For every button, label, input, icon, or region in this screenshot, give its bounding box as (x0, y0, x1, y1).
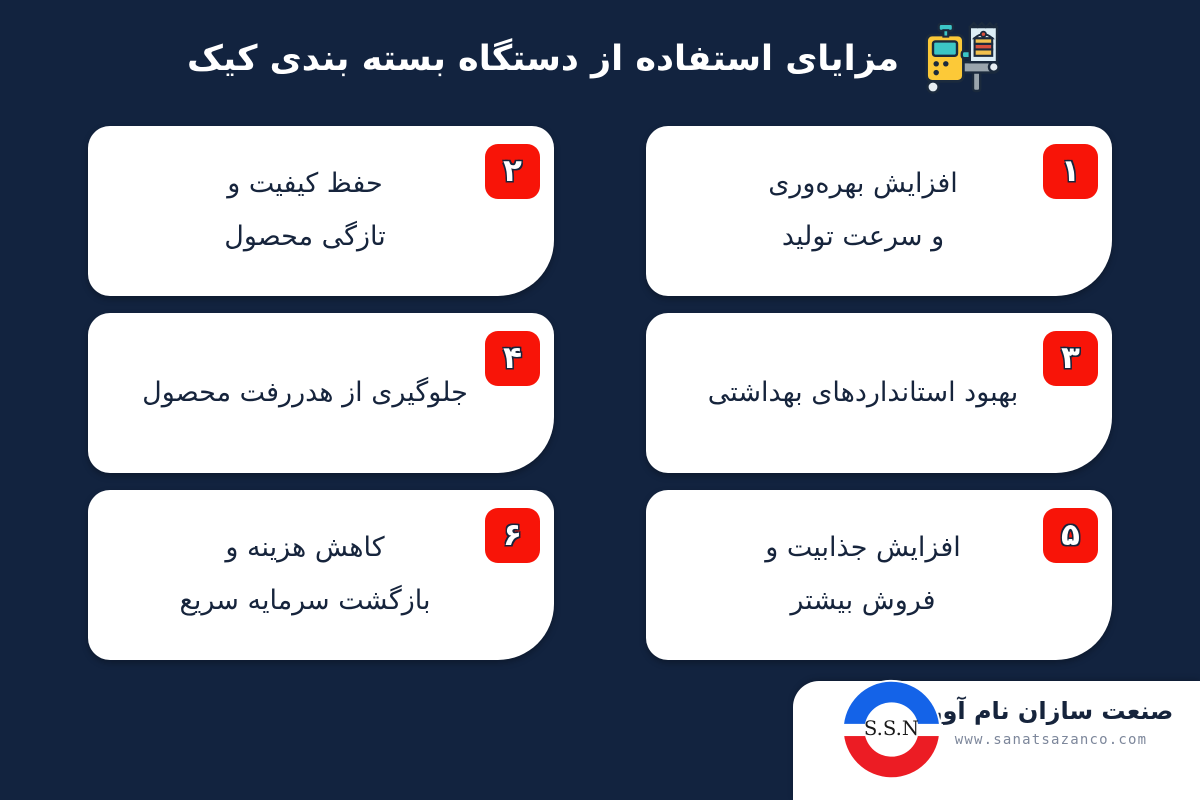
card-text: افزایش بهره‌وری و سرعت تولید (676, 158, 1058, 263)
card-text-line: افزایش جذابیت و (676, 522, 1050, 575)
card-text-line: فروش بیشتر (676, 575, 1050, 628)
card-text: بهبود استانداردهای بهداشتی (676, 374, 1058, 412)
benefit-card[interactable]: ۵ افزایش جذابیت و فروش بیشتر (646, 490, 1112, 660)
card-number-badge: ۵ (1043, 508, 1098, 563)
card-text: کاهش هزینه و بازگشت سرمایه سریع (118, 522, 500, 627)
footer-text-block: صنعت سازان نام آور www.sanatsazanco.com (926, 695, 1176, 748)
benefit-card[interactable]: ۴ جلوگیری از هدررفت محصول (88, 313, 554, 473)
company-website[interactable]: www.sanatsazanco.com (926, 732, 1176, 748)
card-number-badge: ۲ (485, 144, 540, 199)
card-number-badge: ۱ (1043, 144, 1098, 199)
benefit-card[interactable]: ۱ افزایش بهره‌وری و سرعت تولید (646, 126, 1112, 296)
logo-text: S.S.N (864, 717, 919, 740)
card-number-badge: ۳ (1043, 331, 1098, 386)
card-text-line: حفظ کیفیت و (118, 158, 492, 211)
card-text-line: افزایش بهره‌وری (676, 158, 1050, 211)
benefit-card[interactable]: ۲ حفظ کیفیت و تازگی محصول (88, 126, 554, 296)
card-text-line: بازگشت سرمایه سریع (118, 575, 492, 628)
page-title: مزایای استفاده از دستگاه بسته بندی کیک (187, 38, 899, 80)
header: مزایای استفاده از دستگاه بسته بندی کیک (0, 0, 1200, 118)
card-text-line: جلوگیری از هدررفت محصول (118, 374, 492, 412)
card-number-badge: ۶ (485, 508, 540, 563)
card-text: حفظ کیفیت و تازگی محصول (118, 158, 500, 263)
card-text-line: بهبود استانداردهای بهداشتی (676, 374, 1050, 412)
infographic-poster: مزایای استفاده از دستگاه بسته بندی کیک (0, 0, 1200, 800)
card-text: افزایش جذابیت و فروش بیشتر (676, 522, 1058, 627)
ssn-company-logo: S.S.N (840, 678, 943, 781)
company-name: صنعت سازان نام آور (926, 695, 1176, 727)
benefit-card[interactable]: ۳ بهبود استانداردهای بهداشتی (646, 313, 1112, 473)
card-text-line: تازگی محصول (118, 211, 492, 264)
card-number-badge: ۴ (485, 331, 540, 386)
footer-branding-panel: صنعت سازان نام آور www.sanatsazanco.com … (793, 681, 1200, 800)
benefits-grid: ۱ افزایش بهره‌وری و سرعت تولید ۲ حفظ کیف… (88, 126, 1112, 660)
benefit-card[interactable]: ۶ کاهش هزینه و بازگشت سرمایه سریع (88, 490, 554, 660)
cake-packaging-machine-icon (917, 20, 1013, 98)
card-text: جلوگیری از هدررفت محصول (118, 374, 500, 412)
card-text-line: و سرعت تولید (676, 211, 1050, 264)
card-text-line: کاهش هزینه و (118, 522, 492, 575)
